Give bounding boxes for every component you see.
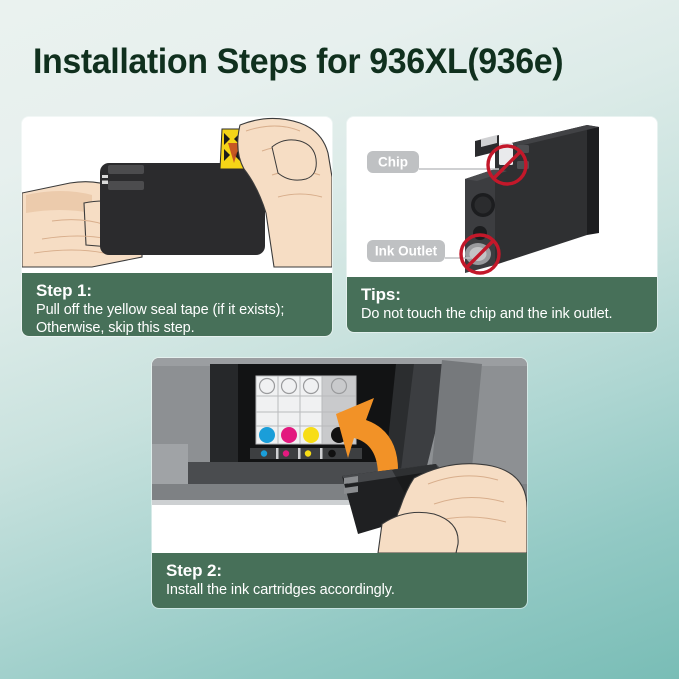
tips-caption: Tips: Do not touch the chip and the ink … <box>347 277 657 332</box>
step-1-panel: Step 1: Pull off the yellow seal tape (i… <box>22 117 332 336</box>
step-1-caption-line-1: Pull off the yellow seal tape (if it exi… <box>36 301 320 319</box>
tips-caption-line-1: Do not touch the chip and the ink outlet… <box>361 305 645 323</box>
step-2-caption-title: Step 2: <box>166 560 515 581</box>
tips-illustration: Chip Ink Outlet <box>347 117 657 277</box>
step-1-illustration <box>22 117 332 273</box>
step-2-panel: Step 2: Install the ink cartridges accor… <box>152 358 527 608</box>
step-2-illustration <box>152 358 527 553</box>
step-2-caption: Step 2: Install the ink cartridges accor… <box>152 553 527 608</box>
step-2-caption-line-1: Install the ink cartridges accordingly. <box>166 581 515 599</box>
tips-caption-title: Tips: <box>361 284 645 305</box>
svg-text:Chip: Chip <box>378 155 408 170</box>
hand-pulling-yellow-seal-tape-from-cartridge-icon <box>22 117 332 273</box>
infographic-page: Installation Steps for 936XL(936e) <box>0 0 679 679</box>
slot-color-cyan <box>259 427 275 443</box>
svg-text:Ink Outlet: Ink Outlet <box>375 244 438 259</box>
cartridge-with-chip-and-ink-outlet-callouts-icon: Chip Ink Outlet <box>347 117 657 277</box>
tips-panel: Chip Ink Outlet Tips: Do not touch the c… <box>347 117 657 332</box>
step-1-caption-line-2: Otherwise, skip this step. <box>36 319 320 336</box>
step-1-caption-title: Step 1: <box>36 280 320 301</box>
inserting-cartridge-into-printer-carriage-icon <box>152 358 527 553</box>
slot-color-magenta <box>281 427 297 443</box>
step-1-caption: Step 1: Pull off the yellow seal tape (i… <box>22 273 332 336</box>
slot-color-yellow <box>303 427 319 443</box>
page-title: Installation Steps for 936XL(936e) <box>33 42 563 82</box>
